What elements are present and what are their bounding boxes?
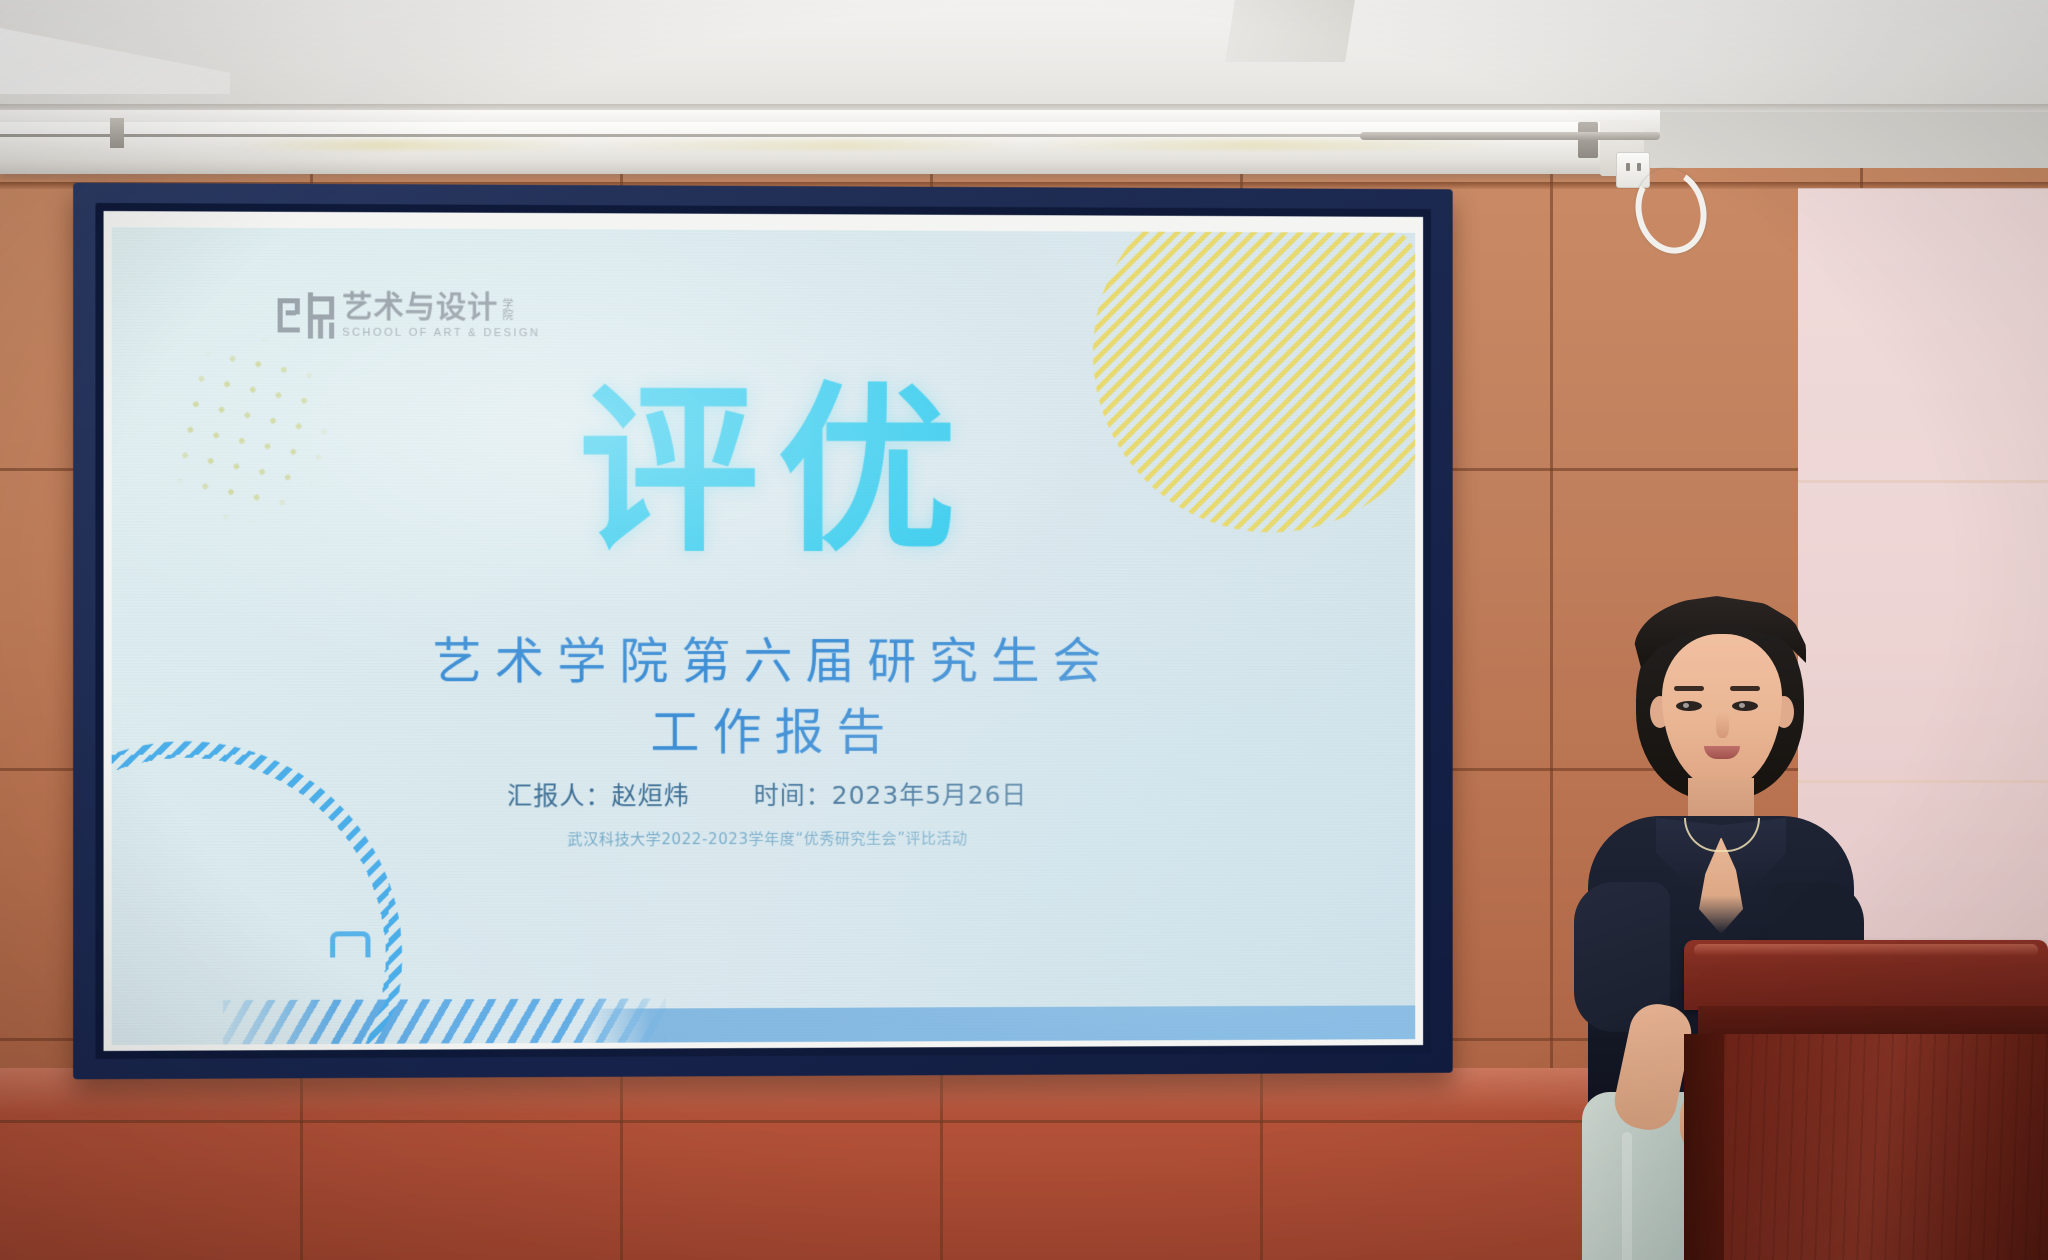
slide-subtitle: 艺术学院第六届研究生会 工作报告	[112, 626, 1416, 769]
ceiling-beam	[1225, 0, 1355, 62]
presentation-slide[interactable]: 艺术与设计 学 院 SCHOOL OF ART & DESIGN 评优 艺术学院…	[112, 227, 1416, 1045]
roller-left-bracket	[110, 118, 124, 148]
eye-right	[1732, 701, 1758, 711]
tile-grout-line	[1798, 480, 2048, 483]
slide-subtitle-line-2: 工作报告	[112, 697, 1416, 769]
outlet-slot	[1626, 163, 1630, 171]
slide-subtitle-line-1: 艺术学院第六届研究生会	[112, 626, 1416, 698]
lectern-top	[1684, 940, 2048, 1010]
school-logo-mark-icon	[278, 292, 335, 338]
cable-conduit	[1360, 132, 1660, 140]
school-logo-chinese: 艺术与设计 学 院	[342, 292, 540, 323]
school-logo-cn-sub: 学 院	[502, 300, 513, 323]
lectern-top-highlight	[1694, 944, 2038, 956]
lectern-side-panel	[1684, 1034, 1728, 1260]
eyebrow-left	[1674, 686, 1704, 691]
school-logo-english: SCHOOL OF ART & DESIGN	[342, 328, 540, 340]
school-logo: 艺术与设计 学 院 SCHOOL OF ART & DESIGN	[278, 292, 541, 339]
roller-right-bracket	[1578, 122, 1598, 158]
lectern-front-panel	[1724, 1034, 2048, 1260]
slide-meta: 汇报人：赵烜炜 时间：2023年5月26日	[112, 775, 1416, 813]
school-logo-cn-main: 艺术与设计	[342, 292, 498, 323]
slide-content: 艺术与设计 学 院 SCHOOL OF ART & DESIGN 评优 艺术学院…	[112, 227, 1416, 1045]
eye-left	[1676, 701, 1702, 711]
nose	[1716, 712, 1729, 738]
photo-scene: 艺术与设计 学 院 SCHOOL OF ART & DESIGN 评优 艺术学院…	[0, 0, 2048, 1260]
wood-grain	[1724, 1034, 2048, 1260]
eye-highlight	[1739, 703, 1745, 708]
slide-meta-presenter: 汇报人：赵烜炜	[507, 781, 690, 810]
ceiling	[0, 0, 2048, 112]
school-logo-cn-sub-line2: 院	[502, 311, 513, 323]
projection-screen-frame: 艺术与设计 学 院 SCHOOL OF ART & DESIGN 评优 艺术学院…	[73, 183, 1453, 1080]
fabric-fold	[1622, 1132, 1632, 1260]
roller-discoloration	[230, 140, 1510, 150]
slide-title: 评优	[112, 380, 1416, 562]
slide-footer: 武汉科技大学2022-2023学年度“优秀研究生会”评比活动	[112, 827, 1416, 851]
eyebrow-right	[1730, 686, 1760, 691]
lectern-lip	[1698, 1006, 2048, 1036]
outlet-slot	[1637, 163, 1641, 171]
wooden-lectern	[1684, 940, 2048, 1260]
school-logo-text: 艺术与设计 学 院 SCHOOL OF ART & DESIGN	[342, 292, 540, 339]
slide-meta-date: 时间：2023年5月26日	[754, 781, 1028, 810]
eye-highlight	[1683, 703, 1689, 708]
